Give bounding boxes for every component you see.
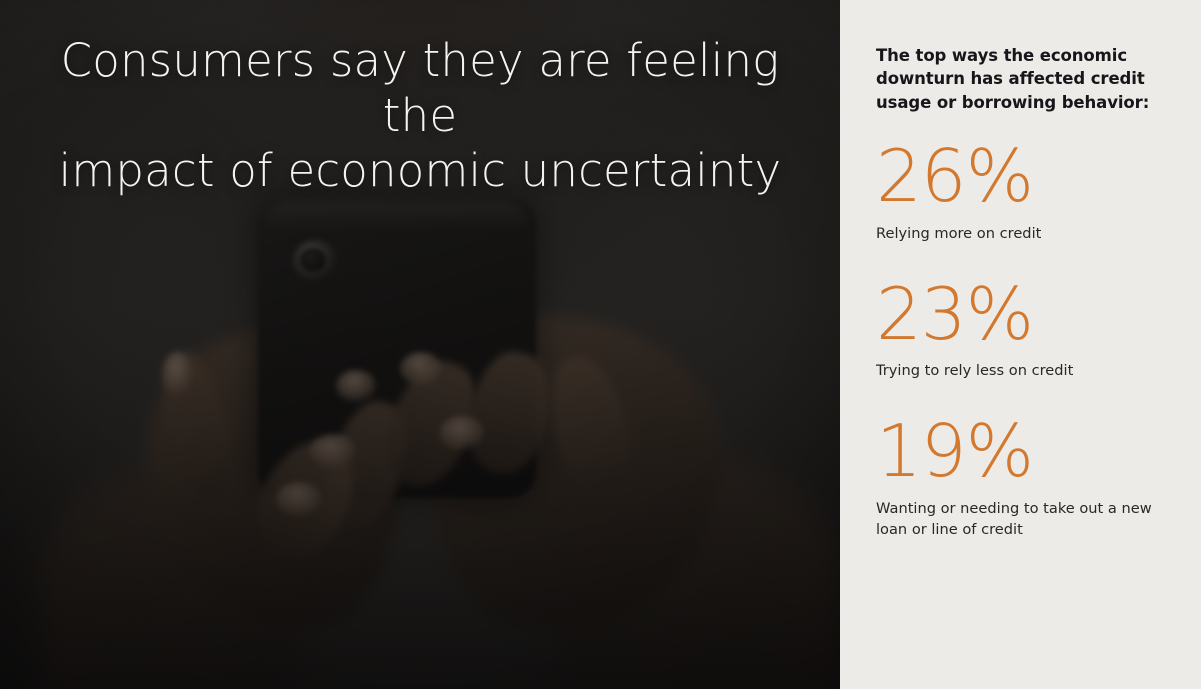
stat-caption: Wanting or needing to take out a new loa… — [876, 498, 1171, 540]
stat-item: 23% Trying to rely less on credit — [876, 278, 1171, 382]
stats-heading: The top ways the economic downturn has a… — [876, 44, 1171, 114]
stat-caption: Relying more on credit — [876, 223, 1171, 244]
stat-list: 26% Relying more on credit 23% Trying to… — [876, 140, 1171, 540]
page-title: Consumers say they are feeling the impac… — [0, 34, 840, 199]
stat-value: 23% — [876, 278, 1171, 351]
stat-item: 26% Relying more on credit — [876, 140, 1171, 244]
stat-value: 26% — [876, 140, 1171, 213]
infographic-canvas: Consumers say they are feeling the impac… — [0, 0, 1201, 689]
photo-panel: Consumers say they are feeling the impac… — [0, 0, 840, 689]
stat-value: 19% — [876, 415, 1171, 488]
stats-panel: The top ways the economic downturn has a… — [840, 0, 1201, 689]
stat-caption: Trying to rely less on credit — [876, 360, 1171, 381]
stat-item: 19% Wanting or needing to take out a new… — [876, 415, 1171, 540]
